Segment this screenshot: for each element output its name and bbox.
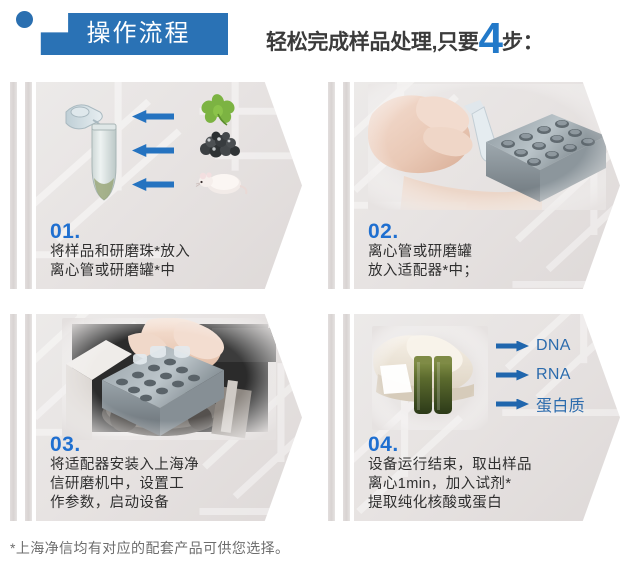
infographic-root: 操作流程 轻松完成样品处理,只要 4 步：	[0, 0, 636, 573]
decorative-dot-icon	[16, 11, 33, 28]
output-label: 蛋白质	[536, 392, 585, 416]
grinding-beads-sample-icon	[192, 129, 248, 161]
step-text-line: 离心管或研磨罐*中	[50, 262, 286, 281]
arrow-left-icon	[132, 178, 174, 191]
output-row: 蛋白质	[496, 392, 585, 416]
steps-grid: 01. 将样品和研磨珠*放入 离心管或研磨罐*中	[0, 72, 636, 530]
step-text-line: 作参数，启动设备	[50, 494, 286, 513]
arrow-right-icon	[496, 341, 529, 352]
gloved-hand-with-tubes-photo	[372, 326, 488, 430]
step-text-line: 将适配器安装入上海净	[50, 456, 286, 475]
step-caption-02: 02. 离心管或研磨罐 放入适配器*中；	[368, 221, 604, 281]
decorative-bar	[343, 314, 350, 521]
output-label: RNA	[536, 366, 571, 384]
inflow-arrows	[132, 104, 190, 200]
decorative-bar	[10, 314, 17, 521]
footnote: *上海净信均有对应的配套产品可供您选择。	[10, 538, 289, 558]
centrifuge-tube-icon	[62, 96, 126, 204]
step-number: 01.	[50, 221, 286, 243]
step-card-04: DNA RNA 蛋白质 04. 设备运行结束，取出样品	[318, 304, 636, 530]
arrow-right-icon	[496, 370, 529, 381]
step-card-02: 02. 离心管或研磨罐 放入适配器*中；	[318, 72, 636, 298]
step-media-03	[36, 314, 302, 442]
decorative-bar	[328, 82, 335, 289]
step-number: 04.	[368, 434, 604, 456]
step-media-01	[36, 82, 302, 210]
decorative-bar	[25, 314, 32, 521]
output-list: DNA RNA 蛋白质	[496, 334, 620, 420]
step-panel-03: 03. 将适配器安装入上海净 信研磨机中，设置工 作参数，启动设备	[36, 314, 302, 521]
decorative-bar	[343, 82, 350, 289]
section-banner: 操作流程	[33, 13, 228, 55]
tagline-before: 轻松完成样品处理,只要	[266, 30, 479, 56]
step-text-line: 离心1min，加入试剂*	[368, 475, 604, 494]
arrow-right-icon	[496, 399, 529, 410]
header: 操作流程 轻松完成样品处理,只要 4 步：	[0, 0, 636, 68]
step-text-line: 将样品和研磨珠*放入	[50, 243, 286, 262]
step-text-line: 信研磨机中，设置工	[50, 475, 286, 494]
output-label: DNA	[536, 337, 571, 355]
hand-holding-tube-photo	[368, 84, 606, 210]
step-caption-01: 01. 将样品和研磨珠*放入 离心管或研磨罐*中	[50, 221, 286, 281]
arrow-left-icon	[132, 144, 174, 157]
step-text-line: 离心管或研磨罐	[368, 243, 604, 262]
header-tagline: 轻松完成样品处理,只要 4 步：	[266, 12, 543, 56]
leaf-sample-icon	[192, 94, 248, 126]
decorative-bar	[25, 82, 32, 289]
output-row: RNA	[496, 363, 571, 387]
step-number: 02.	[368, 221, 604, 243]
step-media-02	[354, 82, 620, 210]
step-panel-04: DNA RNA 蛋白质 04. 设备运行结束，取出样品	[354, 314, 620, 521]
step-text-line: 设备运行结束，取出样品	[368, 456, 604, 475]
decorative-bar	[328, 314, 335, 521]
tagline-step-count: 4	[479, 19, 502, 59]
step-card-01: 01. 将样品和研磨珠*放入 离心管或研磨罐*中	[0, 72, 318, 298]
step-panel-01: 01. 将样品和研磨珠*放入 离心管或研磨罐*中	[36, 82, 302, 289]
arrow-left-icon	[132, 110, 174, 123]
step-text-line: 放入适配器*中；	[368, 262, 604, 281]
adapter-into-grinder-photo	[62, 318, 276, 440]
mouse-sample-icon	[192, 164, 248, 196]
step-card-03: 03. 将适配器安装入上海净 信研磨机中，设置工 作参数，启动设备	[0, 304, 318, 530]
step-text-line: 提取纯化核酸或蛋白	[368, 494, 604, 513]
step-caption-04: 04. 设备运行结束，取出样品 离心1min，加入试剂* 提取纯化核酸或蛋白	[368, 434, 604, 513]
step-panel-02: 02. 离心管或研磨罐 放入适配器*中；	[354, 82, 620, 289]
step-number: 03.	[50, 434, 286, 456]
output-row: DNA	[496, 334, 571, 358]
tagline-after: 步：	[502, 30, 543, 56]
section-banner-label: 操作流程	[87, 22, 191, 46]
decorative-bar	[10, 82, 17, 289]
step-media-04: DNA RNA 蛋白质	[354, 314, 620, 442]
step-caption-03: 03. 将适配器安装入上海净 信研磨机中，设置工 作参数，启动设备	[50, 434, 286, 513]
sample-icons	[192, 94, 270, 208]
